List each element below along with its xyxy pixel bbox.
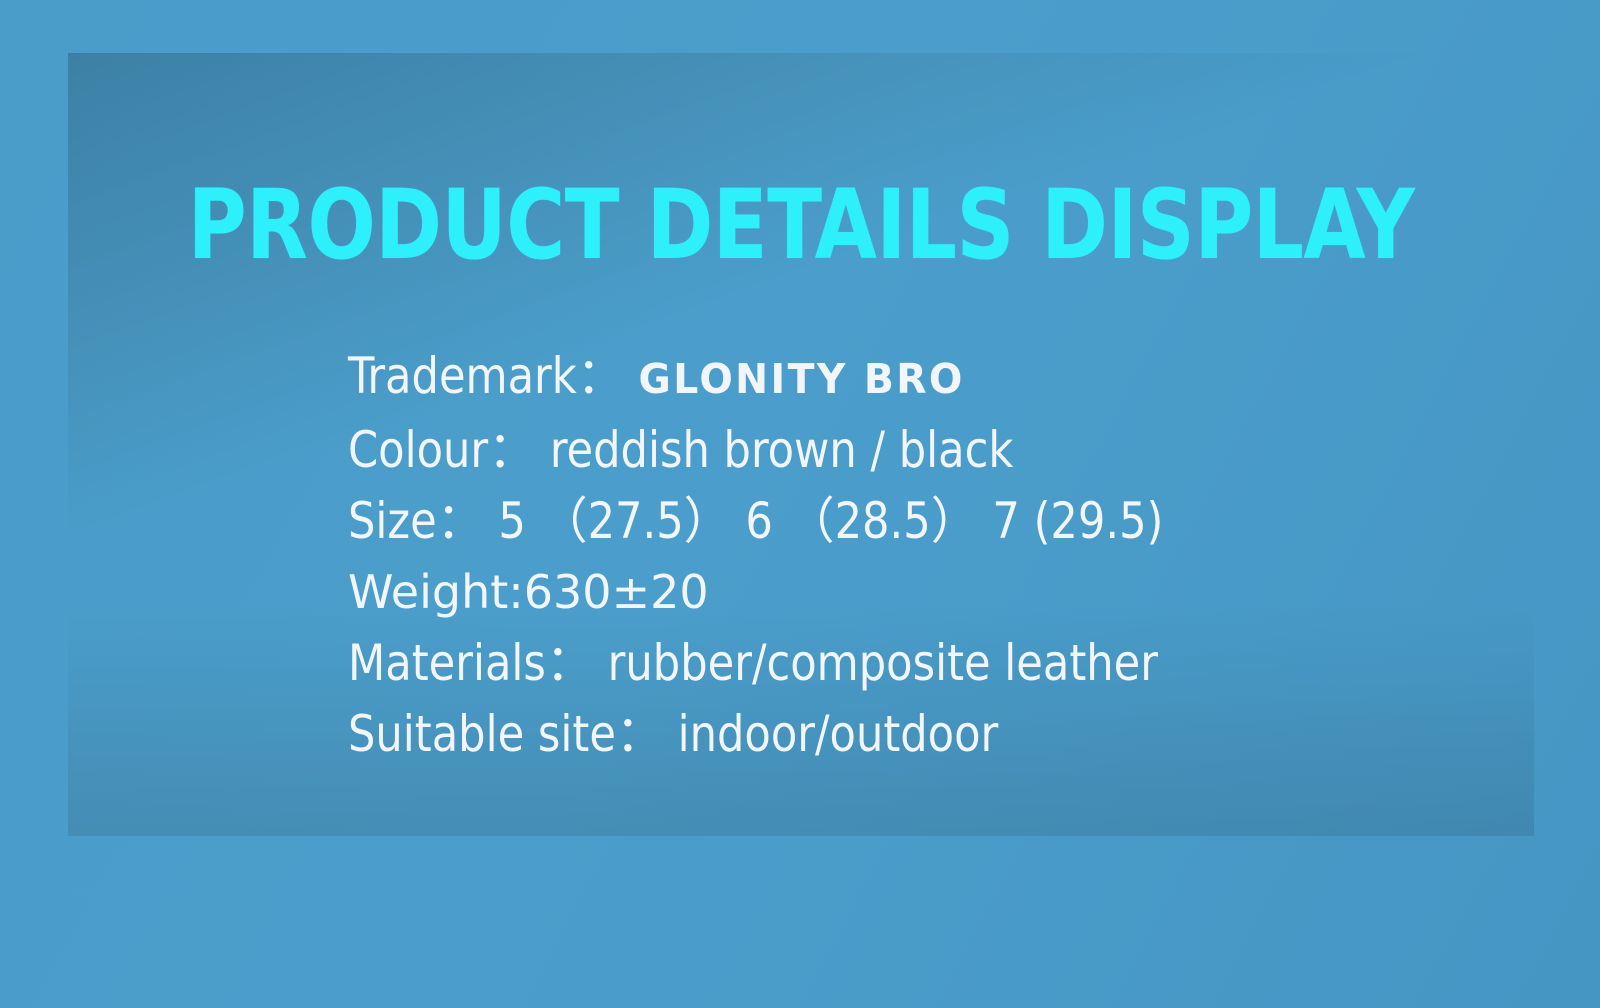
spec-row-suitable-site: Suitable site： indoor/outdoor [348, 699, 1163, 770]
spec-value-weight: 630±20 [524, 565, 709, 619]
spec-value-trademark: GLONITY BRO [639, 355, 965, 403]
spec-label-colour: Colour： [348, 421, 536, 479]
spec-label-weight: Weight: [348, 565, 524, 619]
page-title: PRODUCT DETAILS DISPLAY [119, 177, 1482, 273]
spec-value-suitable-site: indoor/outdoor [678, 705, 999, 763]
spec-label-size: Size： [348, 492, 485, 550]
spec-label-suitable-site: Suitable site： [348, 705, 664, 763]
spec-row-weight: Weight:630±20 [348, 557, 1197, 628]
spec-label-materials: Materials： [348, 634, 594, 692]
product-spec-list: Trademark： GLONITY BRO Colour： reddish b… [348, 341, 1197, 770]
spec-row-materials: Materials： rubber/composite leather [348, 628, 1163, 699]
spec-row-size: Size： 5 （27.5） 6 （28.5） 7 (29.5) [348, 486, 1163, 557]
spec-value-materials: rubber/composite leather [608, 634, 1158, 692]
spec-value-size: 5 （27.5） 6 （28.5） 7 (29.5) [498, 492, 1163, 550]
spec-label-trademark: Trademark： [348, 347, 625, 405]
slide-canvas: PRODUCT DETAILS DISPLAY Trademark： GLONI… [0, 0, 1600, 1008]
product-details-panel: PRODUCT DETAILS DISPLAY Trademark： GLONI… [68, 53, 1534, 836]
spec-row-colour: Colour： reddish brown / black [348, 415, 1163, 486]
spec-value-colour: reddish brown / black [550, 421, 1014, 479]
spec-row-trademark: Trademark： GLONITY BRO [348, 341, 1163, 415]
